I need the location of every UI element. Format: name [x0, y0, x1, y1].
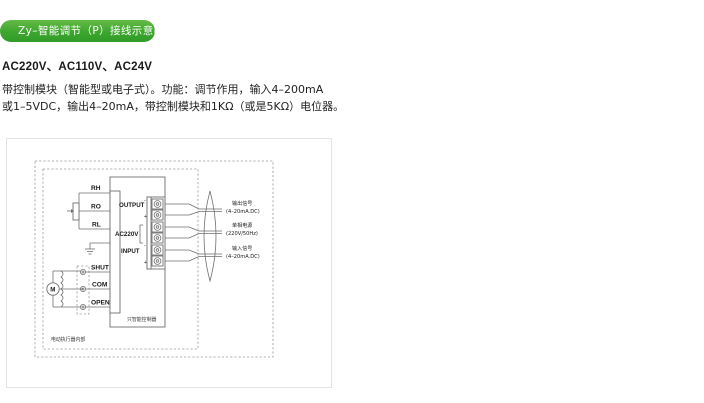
signal-name-output: 输出信号: [232, 200, 252, 207]
cable-bundle-input: [165, 250, 222, 261]
wiring-diagram-card: .ln{stroke:#6f6f6f;stroke-width:.8;fill:…: [6, 138, 332, 388]
terminal-screw: [152, 222, 163, 232]
module-left-strip: [110, 191, 120, 313]
terminal-screw: [152, 245, 163, 255]
terminal-label-ro: RO: [91, 204, 101, 211]
terminal-screw: [152, 256, 163, 266]
terminal-label-shut: SHUT: [91, 265, 109, 272]
signal-name-power: 单相电源: [232, 222, 252, 229]
terminal-label-open: OPEN: [91, 300, 110, 307]
potentiometer-group: [67, 193, 110, 229]
signal-spec-output: (4–20mA.DC): [226, 209, 260, 215]
terminal-label-rl: RL: [92, 222, 101, 229]
motor-symbol-label: M: [50, 286, 55, 293]
motor-terminal-screws: [80, 269, 85, 309]
controller-caption: 只智能控制器: [127, 316, 156, 323]
page-root: Zy–智能调节（P）接线示意图 AC220V、AC110V、AC24V 带控制模…: [0, 0, 704, 403]
section-title-badge: Zy–智能调节（P）接线示意图: [0, 20, 155, 42]
terminal-screw: [152, 199, 163, 209]
signal-name-input: 输入信号: [232, 245, 252, 252]
description-line-1: 带控制模块（智能型或电子式）。功能：调节作用，输入4–200mA: [2, 81, 362, 98]
block-label-ac220v: AC220V: [115, 231, 139, 238]
ground-icon: [85, 243, 110, 254]
polarity-mark: +: [144, 260, 147, 266]
cable-sheath: [204, 191, 216, 281]
terminal-block-rail: [147, 197, 151, 269]
actuator-caption: 电动执行器内部: [51, 336, 85, 343]
wiring-diagram: .ln{stroke:#6f6f6f;stroke-width:.8;fill:…: [7, 139, 333, 389]
terminal-screw: [152, 210, 163, 220]
signal-spec-power: (220V/50Hz): [226, 231, 258, 237]
terminal-screw: [152, 233, 163, 243]
motor-group: M: [47, 271, 83, 307]
block-label-output: OUTPUT: [119, 202, 145, 209]
terminal-label-rh: RH: [91, 185, 101, 192]
potentiometer-body: [73, 203, 79, 220]
description-line-2: 或1–5VDC，输出4–20mA，带控制模块和1KΩ（或是5KΩ）电位器。: [2, 98, 362, 115]
voltage-heading: AC220V、AC110V、AC24V: [2, 58, 152, 74]
polarity-mark: +: [144, 214, 147, 220]
section-title-text: Zy–智能调节（P）接线示意图: [18, 20, 165, 42]
description-paragraph: 带控制模块（智能型或电子式）。功能：调节作用，输入4–200mA 或1–5VDC…: [2, 81, 362, 115]
terminal-label-com: COM: [92, 282, 108, 289]
cable-bundle-power: [165, 227, 222, 238]
signal-spec-input: (4–20mA.DC): [226, 254, 260, 260]
block-label-input: INPUT: [121, 248, 140, 255]
